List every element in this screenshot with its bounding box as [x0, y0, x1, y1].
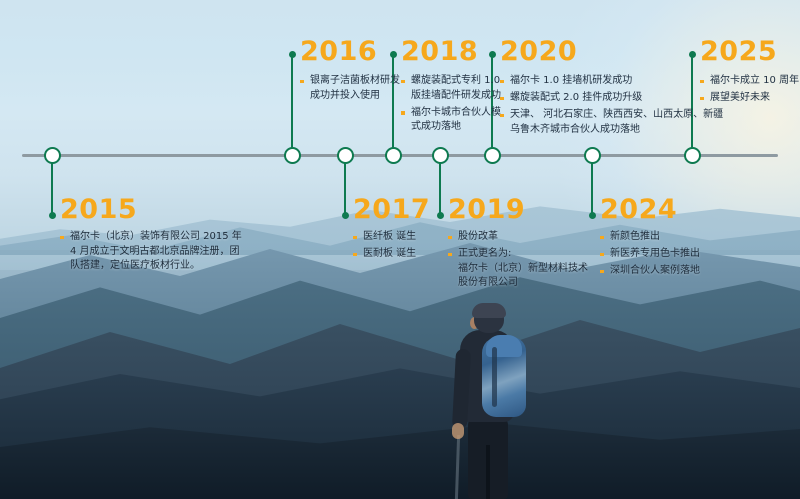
- timeline-entry-2020[interactable]: 2020福尔卡 1.0 挂墙机研发成功螺旋装配式 2.0 挂件成功升级天津、 河…: [500, 38, 723, 140]
- timeline-bullet-line: 银离子洁菌板材研发: [310, 74, 400, 89]
- timeline-node-2018[interactable]: [385, 147, 402, 164]
- timeline-bullet: 福尔卡（北京）装饰有限公司 2015 年4 月成立于文明古都北京品牌注册，团队搭…: [60, 230, 242, 274]
- timeline-bullet-line: 队搭建，定位医疗板材行业。: [70, 259, 242, 274]
- timeline-bullet-line: 螺旋装配式专利 1.0: [411, 74, 501, 89]
- timeline-stem-2017: [344, 156, 347, 216]
- timeline-bullet: 福尔卡 1.0 挂墙机研发成功: [500, 74, 723, 89]
- timeline-year-2018: 2018: [401, 38, 501, 65]
- timeline-bullet-list-2024: 新颜色推出新医养专用色卡推出深圳合伙人案例落地: [600, 230, 700, 279]
- timeline-node-2017[interactable]: [337, 147, 354, 164]
- timeline-entry-2016[interactable]: 2016银离子洁菌板材研发成功并投入使用: [300, 38, 400, 106]
- timeline-bullet: 正式更名为:福尔卡（北京）新型材料技术股份有限公司: [448, 247, 588, 291]
- hiker-hand: [452, 423, 464, 439]
- timeline-bullet-line: 医耐板 诞生: [363, 247, 430, 262]
- timeline-year-2020: 2020: [500, 38, 723, 65]
- hiker-backpack-strap: [492, 347, 497, 407]
- timeline-bullet: 天津、 河北石家庄、陕西西安、山西太原、新疆乌鲁木齐城市合伙人成功落地: [500, 108, 723, 137]
- timeline-bullet: 深圳合伙人案例落地: [600, 264, 700, 279]
- timeline-bullet-list-2020: 福尔卡 1.0 挂墙机研发成功螺旋装配式 2.0 挂件成功升级天津、 河北石家庄…: [500, 74, 723, 137]
- timeline-bullet: 新颜色推出: [600, 230, 700, 245]
- timeline-bullet-line: 医纤板 诞生: [363, 230, 430, 245]
- timeline-bullet: 医纤板 诞生: [353, 230, 430, 245]
- timeline-bullet: 福尔卡成立 10 周年: [700, 74, 799, 89]
- timeline-bullet-line: 新医养专用色卡推出: [610, 247, 700, 262]
- timeline-bullet-list-2017: 医纤板 诞生医耐板 诞生: [353, 230, 430, 262]
- timeline-entry-2019[interactable]: 2019股份改革正式更名为:福尔卡（北京）新型材料技术股份有限公司: [448, 196, 588, 293]
- timeline-node-2024[interactable]: [584, 147, 601, 164]
- timeline-bullet: 福尔卡城市合伙人模式成功落地: [401, 106, 501, 135]
- timeline-bullet: 医耐板 诞生: [353, 247, 430, 262]
- timeline-bullet-list-2019: 股份改革正式更名为:福尔卡（北京）新型材料技术股份有限公司: [448, 230, 588, 291]
- timeline-node-2020[interactable]: [484, 147, 501, 164]
- timeline-bullet-line: 福尔卡 1.0 挂墙机研发成功: [510, 74, 723, 89]
- timeline-year-2019: 2019: [448, 196, 588, 223]
- timeline-bullet-line: 成功并投入使用: [310, 89, 400, 104]
- timeline-year-2017: 2017: [353, 196, 430, 223]
- timeline-bullet-line: 福尔卡城市合伙人模: [411, 106, 501, 121]
- timeline-bullet: 股份改革: [448, 230, 588, 245]
- timeline-bullet-line: 股份改革: [458, 230, 588, 245]
- timeline-bullet-line: 福尔卡（北京）新型材料技术: [458, 262, 588, 277]
- timeline-bullet-line: 新颜色推出: [610, 230, 700, 245]
- timeline-bullet-line: 展望美好未来: [710, 91, 799, 106]
- hiker-trekking-pole: [455, 435, 460, 499]
- timeline-bullet: 螺旋装配式专利 1.0版挂墙配件研发成功: [401, 74, 501, 103]
- timeline-entry-2015[interactable]: 2015福尔卡（北京）装饰有限公司 2015 年4 月成立于文明古都北京品牌注册…: [60, 196, 242, 276]
- timeline-bullet: 新医养专用色卡推出: [600, 247, 700, 262]
- timeline-stem-2019: [439, 156, 442, 216]
- timeline-year-2016: 2016: [300, 38, 400, 65]
- timeline-bullet-line: 正式更名为:: [458, 247, 588, 262]
- timeline-stem-2015: [51, 156, 54, 216]
- timeline-bullet-line: 天津、 河北石家庄、陕西西安、山西太原、新疆: [510, 108, 723, 123]
- timeline-bullet: 螺旋装配式 2.0 挂件成功升级: [500, 91, 723, 106]
- timeline-bullet-line: 乌鲁木齐城市合伙人成功落地: [510, 123, 723, 138]
- timeline-bullet: 展望美好未来: [700, 91, 799, 106]
- timeline-bullet-line: 股份有限公司: [458, 276, 588, 291]
- timeline-bullet-line: 福尔卡（北京）装饰有限公司 2015 年: [70, 230, 242, 245]
- timeline-bullet-line: 4 月成立于文明古都北京品牌注册，团: [70, 245, 242, 260]
- timeline-stem-2024: [591, 156, 594, 216]
- timeline-bullet-list-2016: 银离子洁菌板材研发成功并投入使用: [300, 74, 400, 103]
- timeline-node-2015[interactable]: [44, 147, 61, 164]
- timeline-bullet-line: 福尔卡成立 10 周年: [710, 74, 799, 89]
- timeline-bullet-list-2025: 福尔卡成立 10 周年展望美好未来: [700, 74, 799, 106]
- timeline-year-2024: 2024: [600, 196, 700, 223]
- timeline-bullet-line: 深圳合伙人案例落地: [610, 264, 700, 279]
- timeline-bullet-line: 式成功落地: [411, 120, 501, 135]
- timeline-entry-2018[interactable]: 2018螺旋装配式专利 1.0版挂墙配件研发成功福尔卡城市合伙人模式成功落地: [401, 38, 501, 137]
- hiker-figure: [430, 305, 550, 499]
- timeline-year-2015: 2015: [60, 196, 242, 223]
- timeline-entry-2025[interactable]: 2025福尔卡成立 10 周年展望美好未来: [700, 38, 799, 108]
- hiker-leg-split: [486, 445, 490, 499]
- timeline-year-2025: 2025: [700, 38, 799, 65]
- timeline-node-2016[interactable]: [284, 147, 301, 164]
- timeline-entry-2024[interactable]: 2024新颜色推出新医养专用色卡推出深圳合伙人案例落地: [600, 196, 700, 281]
- hiker-beanie: [472, 303, 506, 318]
- timeline-bullet-list-2015: 福尔卡（北京）装饰有限公司 2015 年4 月成立于文明古都北京品牌注册，团队搭…: [60, 230, 242, 274]
- timeline-entry-2017[interactable]: 2017医纤板 诞生医耐板 诞生: [353, 196, 430, 264]
- timeline-infographic: 2015福尔卡（北京）装饰有限公司 2015 年4 月成立于文明古都北京品牌注册…: [0, 0, 800, 499]
- timeline-bullet: 银离子洁菌板材研发成功并投入使用: [300, 74, 400, 103]
- timeline-bullet-line: 螺旋装配式 2.0 挂件成功升级: [510, 91, 723, 106]
- timeline-bullet-line: 版挂墙配件研发成功: [411, 89, 501, 104]
- timeline-stem-2016: [291, 54, 294, 154]
- timeline-node-2019[interactable]: [432, 147, 449, 164]
- timeline-node-2025[interactable]: [684, 147, 701, 164]
- timeline-bullet-list-2018: 螺旋装配式专利 1.0版挂墙配件研发成功福尔卡城市合伙人模式成功落地: [401, 74, 501, 135]
